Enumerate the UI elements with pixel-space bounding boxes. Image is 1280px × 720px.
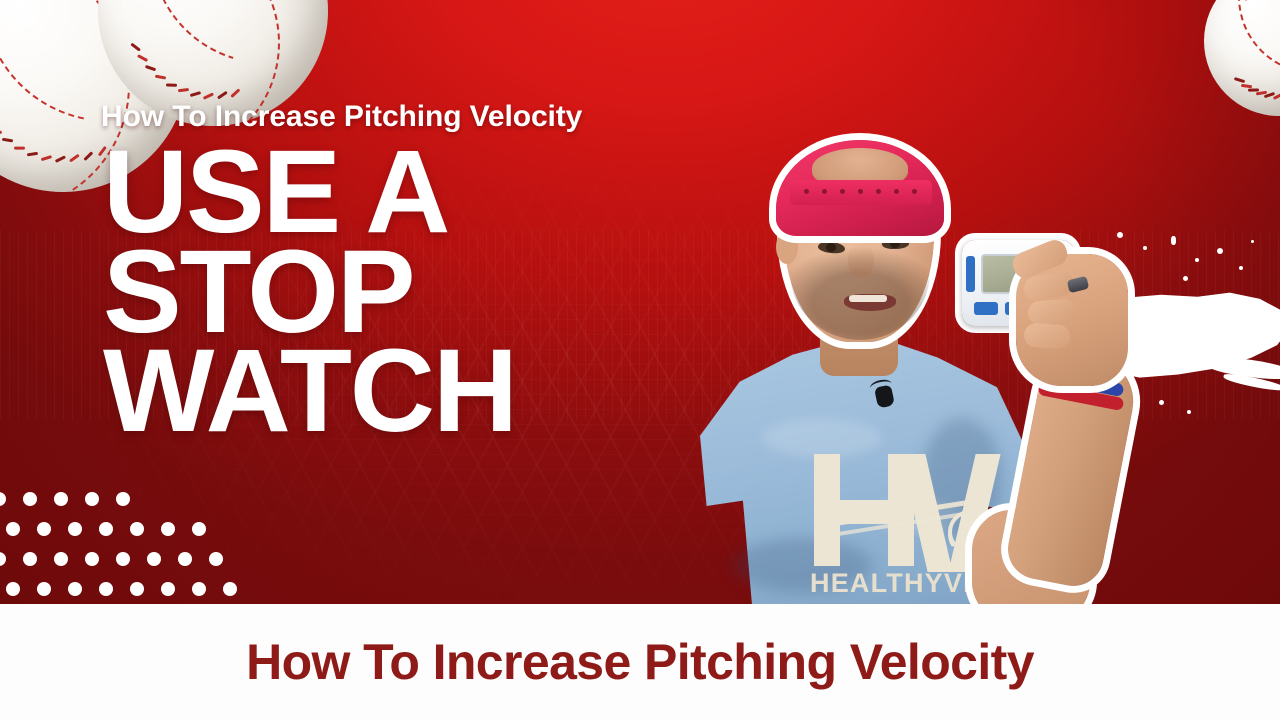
decor-dot	[99, 522, 113, 536]
decor-dot	[23, 552, 37, 566]
decor-dot	[37, 522, 51, 536]
presenter-photo: HEALTHYVELO	[672, 118, 1232, 610]
decor-dot	[209, 552, 223, 566]
decor-dot	[161, 522, 175, 536]
banner-title: How To Increase Pitching Velocity	[246, 633, 1034, 691]
decor-dot	[130, 582, 144, 596]
nose	[848, 244, 874, 278]
bottom-banner: How To Increase Pitching Velocity	[0, 604, 1280, 720]
decor-dot	[6, 522, 20, 536]
decor-dot	[223, 582, 237, 596]
decor-dot	[68, 582, 82, 596]
headline-line-3: WATCH	[103, 342, 516, 442]
decor-dot	[178, 552, 192, 566]
baseball-stitch	[14, 147, 25, 150]
decor-dot	[54, 552, 68, 566]
decor-dot	[54, 492, 68, 506]
decor-dot	[85, 552, 99, 566]
decor-dot	[147, 552, 161, 566]
video-thumbnail: HEALTHYVELO	[0, 0, 1280, 720]
decor-dot	[6, 582, 20, 596]
decor-dot	[192, 582, 206, 596]
headline: USE A STOP WATCH	[103, 143, 516, 442]
decor-dot	[23, 492, 37, 506]
dot-pattern-decor	[0, 492, 250, 610]
decor-dot	[130, 522, 144, 536]
baseball-stitch	[1248, 89, 1259, 92]
stopwatch-button	[974, 302, 998, 315]
decor-dot	[99, 582, 113, 596]
decor-dot	[116, 492, 130, 506]
baseball-icon	[1204, 0, 1280, 116]
mouth	[844, 294, 896, 311]
decor-dot	[68, 522, 82, 536]
decor-dot	[192, 522, 206, 536]
decor-dot	[0, 492, 6, 506]
decor-dot	[116, 552, 130, 566]
baseball-stitch	[166, 84, 177, 87]
decor-dot	[161, 582, 175, 596]
decor-dot	[37, 582, 51, 596]
cap-strap	[790, 180, 932, 205]
decor-dot	[85, 492, 99, 506]
decor-dot	[0, 552, 6, 566]
